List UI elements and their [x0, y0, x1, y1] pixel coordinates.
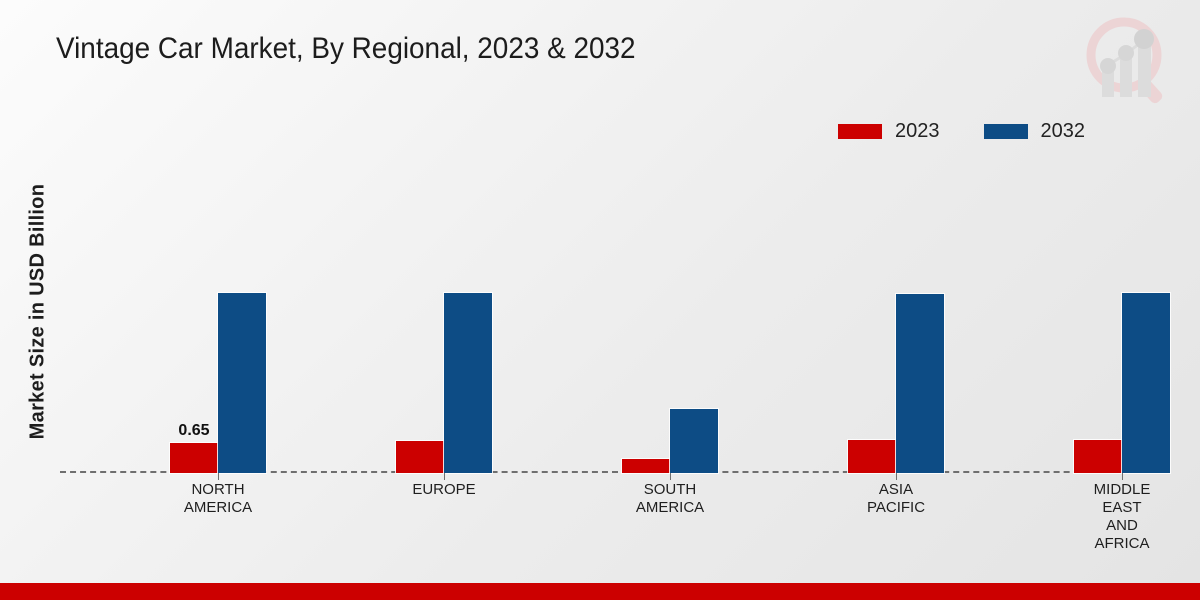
bar-2023[interactable]: [396, 441, 444, 473]
x-axis-category-line: AFRICA: [1047, 535, 1197, 553]
x-axis-category-line: NORTH: [143, 481, 293, 499]
axis-tick: [1122, 473, 1123, 480]
bar-group: MIDDLEEASTANDAFRICA: [1074, 160, 1170, 473]
footer-accent-bar: [0, 583, 1200, 600]
bar-2023[interactable]: 0.65: [170, 443, 218, 473]
x-axis-category-line: AMERICA: [595, 499, 745, 517]
bar-2032[interactable]: [896, 294, 944, 473]
axis-tick: [670, 473, 671, 480]
bar-group: 0.65NORTHAMERICA: [170, 160, 266, 473]
bar-group: SOUTHAMERICA: [622, 160, 718, 473]
bar-2032[interactable]: [1122, 293, 1170, 473]
bar-2032[interactable]: [670, 409, 718, 473]
legend-swatch-blue-icon: [984, 124, 1028, 139]
chart-legend: 2023 2032: [838, 120, 1085, 143]
x-axis-category-line: EUROPE: [369, 481, 519, 499]
x-axis-category-line: AND: [1047, 517, 1197, 535]
legend-label-2023: 2023: [895, 120, 940, 143]
x-axis-category-line: MIDDLE: [1047, 481, 1197, 499]
chart-canvas: Vintage Car Market, By Regional, 2023 & …: [0, 0, 1200, 600]
y-axis-title: Market Size in USD Billion: [27, 152, 50, 472]
bar-value-label: 0.65: [178, 422, 209, 440]
legend-label-2032: 2032: [1041, 120, 1086, 143]
x-axis-category-line: EAST: [1047, 499, 1197, 517]
page-title: Vintage Car Market, By Regional, 2023 & …: [56, 32, 636, 66]
axis-tick: [896, 473, 897, 480]
x-axis-category-line: SOUTH: [595, 481, 745, 499]
legend-swatch-red-icon: [838, 124, 882, 139]
axis-tick: [444, 473, 445, 480]
x-axis-category-label: EUROPE: [369, 481, 519, 499]
bar-2023[interactable]: [622, 459, 670, 473]
x-axis-category-label: ASIAPACIFIC: [821, 481, 971, 517]
bar-2032[interactable]: [444, 293, 492, 473]
x-axis-category-line: ASIA: [821, 481, 971, 499]
bar-group: ASIAPACIFIC: [848, 160, 944, 473]
x-axis-category-line: PACIFIC: [821, 499, 971, 517]
x-axis-category-label: MIDDLEEASTANDAFRICA: [1047, 481, 1197, 553]
legend-item-2032[interactable]: 2032: [984, 120, 1086, 143]
bar-2032[interactable]: [218, 293, 266, 473]
x-axis-category-label: SOUTHAMERICA: [595, 481, 745, 517]
bar-2023[interactable]: [848, 440, 896, 473]
x-axis-category-line: AMERICA: [143, 499, 293, 517]
magnifier-bar-chart-logo-icon: [1074, 8, 1182, 114]
x-axis-category-label: NORTHAMERICA: [143, 481, 293, 517]
bar-group: EUROPE: [396, 160, 492, 473]
bar-2023[interactable]: [1074, 440, 1122, 473]
plot-area: 0.65NORTHAMERICAEUROPESOUTHAMERICAASIAPA…: [60, 160, 1170, 473]
legend-item-2023[interactable]: 2023: [838, 120, 940, 143]
axis-tick: [218, 473, 219, 480]
